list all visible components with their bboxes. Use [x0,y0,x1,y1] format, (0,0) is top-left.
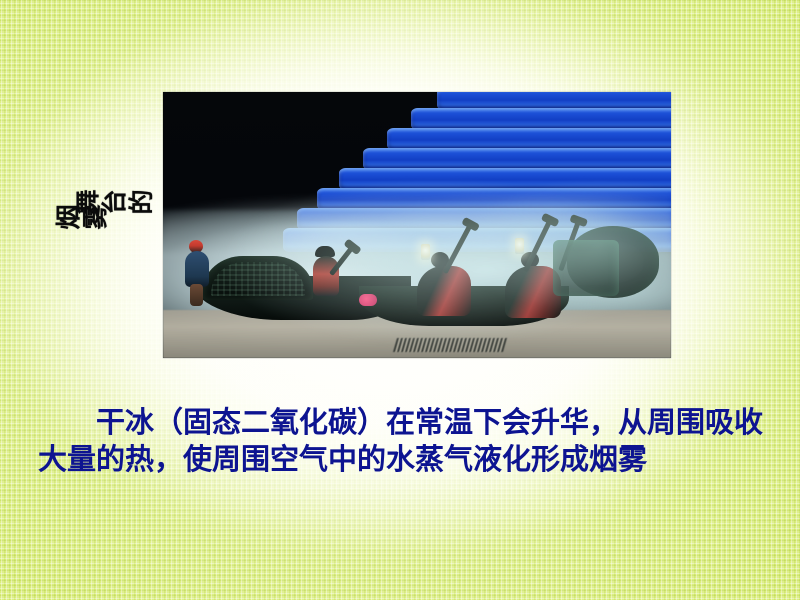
performer-2-body [313,256,339,296]
boat-cabin [203,256,313,300]
stage-lamp-2 [515,238,524,254]
performer-3 [417,252,473,320]
stage-lamp-1 [421,244,430,260]
vertical-title-line2: 烟雾 [55,206,135,234]
performer-3-body [417,266,471,316]
flower-prop [359,294,377,306]
performer-1-legs [190,284,203,306]
performer-1-body [185,251,209,287]
performer-1 [185,240,211,306]
slide-canvas: 舞台的 烟雾 [0,0,800,600]
stage-prop-box [553,240,619,296]
performer-2 [311,246,345,306]
vertical-title: 舞台的 烟雾 [97,140,169,315]
slide-caption: 干冰（固态二氧化碳）在常温下会升华，从周围吸收大量的热，使周围空气中的水蒸气液化… [38,404,764,478]
floor-grate [393,338,507,352]
stage-fog-photo [163,92,671,358]
